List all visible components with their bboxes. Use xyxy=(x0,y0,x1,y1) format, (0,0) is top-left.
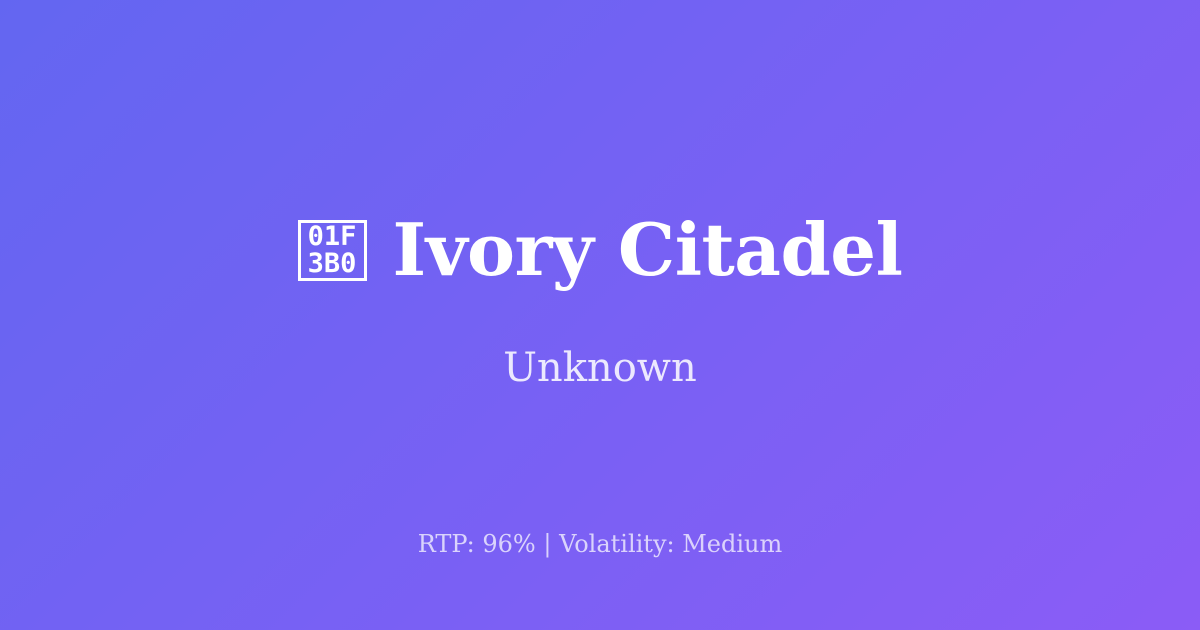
title-row: 01F 3B0 Ivory Citadel xyxy=(0,212,1200,288)
og-share-card: 01F 3B0 Ivory Citadel Unknown RTP: 96% |… xyxy=(0,0,1200,630)
page-title: Ivory Citadel xyxy=(393,212,903,288)
tofu-hex-top: 01F xyxy=(308,223,357,250)
provider-subtitle: Unknown xyxy=(503,344,697,392)
game-stats-line: RTP: 96% | Volatility: Medium xyxy=(0,529,1200,559)
tofu-hex-bottom: 3B0 xyxy=(308,250,357,277)
slot-machine-icon: 01F 3B0 xyxy=(298,220,367,281)
hero-section: 01F 3B0 Ivory Citadel Unknown xyxy=(0,212,1200,392)
